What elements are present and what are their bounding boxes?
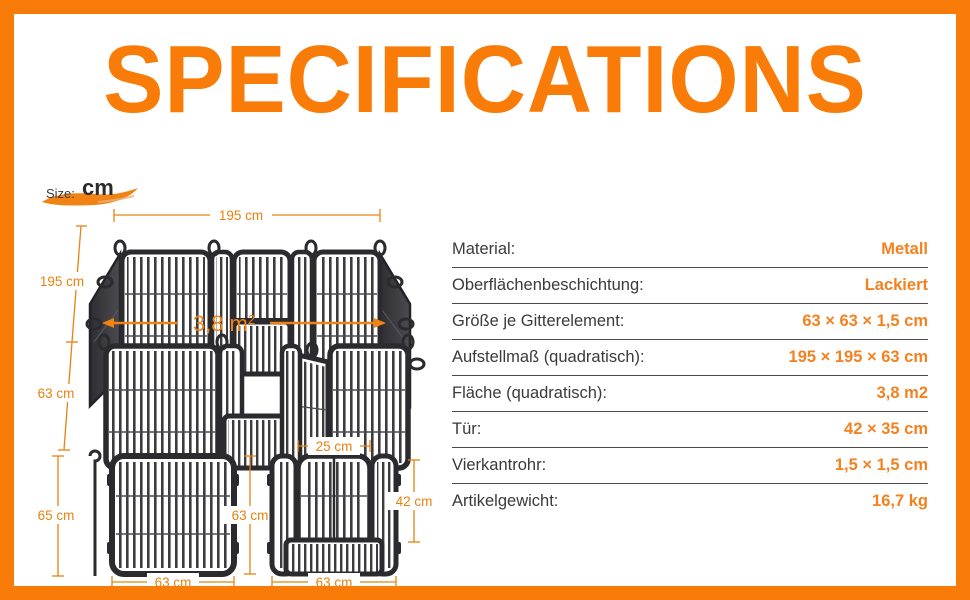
dimension-left-63-label: 63 cm [38,386,75,401]
spec-value: 1,5 × 1,5 cm [835,456,928,475]
table-row: Oberflächenbeschichtung: Lackiert [452,268,928,304]
dimension-left-195-label: 195 cm [40,274,84,289]
pen-front-panel-left [106,346,218,468]
dimension-door-top-label: 25 cm [316,439,353,454]
spec-value: Metall [881,240,928,259]
spec-label: Größe je Gitterelement: [452,312,624,331]
card-inner: SPECIFICATIONS Size: cm [14,14,956,586]
spec-value: 16,7 kg [872,492,928,511]
spec-value: 3,8 m2 [877,384,928,403]
spec-value: 42 × 35 cm [844,420,928,439]
table-row: Aufstellmaß (quadratisch): 195 × 195 × 6… [452,340,928,376]
spec-label: Fläche (quadratisch): [452,384,607,403]
pen-gate-frame [282,346,300,468]
spec-value: 195 × 195 × 63 cm [789,348,928,367]
dimension-top-width-label: 195 cm [219,208,263,223]
specifications-table: Material: Metall Oberflächenbeschichtung… [452,232,928,519]
ground-stake-illustration [90,451,100,576]
spec-label: Vierkantrohr: [452,456,546,475]
table-row: Fläche (quadratisch): 3,8 m2 [452,376,928,412]
spec-label: Artikelgewicht: [452,492,558,511]
dimension-panel-height-label: 63 cm [232,508,269,523]
spec-label: Material: [452,240,515,259]
dimension-stake-label: 65 cm [38,508,75,523]
single-panel-door [267,456,401,574]
table-row: Größe je Gitterelement: 63 × 63 × 1,5 cm [452,304,928,340]
spec-label: Tür: [452,420,481,439]
spec-label: Aufstellmaß (quadratisch): [452,348,645,367]
spec-label: Oberflächenbeschichtung: [452,276,644,295]
dimension-door-height-label: 42 cm [396,494,433,509]
dimension-door-width-label: 63 cm [316,575,353,586]
spec-value: 63 × 63 × 1,5 cm [802,312,928,331]
spec-value: Lackiert [865,276,928,295]
table-row: Tür: 42 × 35 cm [452,412,928,448]
table-row: Artikelgewicht: 16,7 kg [452,484,928,519]
dimension-area-label: 3,8 m2 [193,311,255,336]
table-row: Material: Metall [452,232,928,268]
table-row: Vierkantrohr: 1,5 × 1,5 cm [452,448,928,484]
specification-card: SPECIFICATIONS Size: cm [0,0,970,600]
single-panel-plain [107,456,239,574]
dimension-panel-width-label: 63 cm [155,575,192,586]
page-title: SPECIFICATIONS [42,30,927,130]
product-dimension-diagram: 195 cm 195 cm 63 cm [28,194,448,586]
